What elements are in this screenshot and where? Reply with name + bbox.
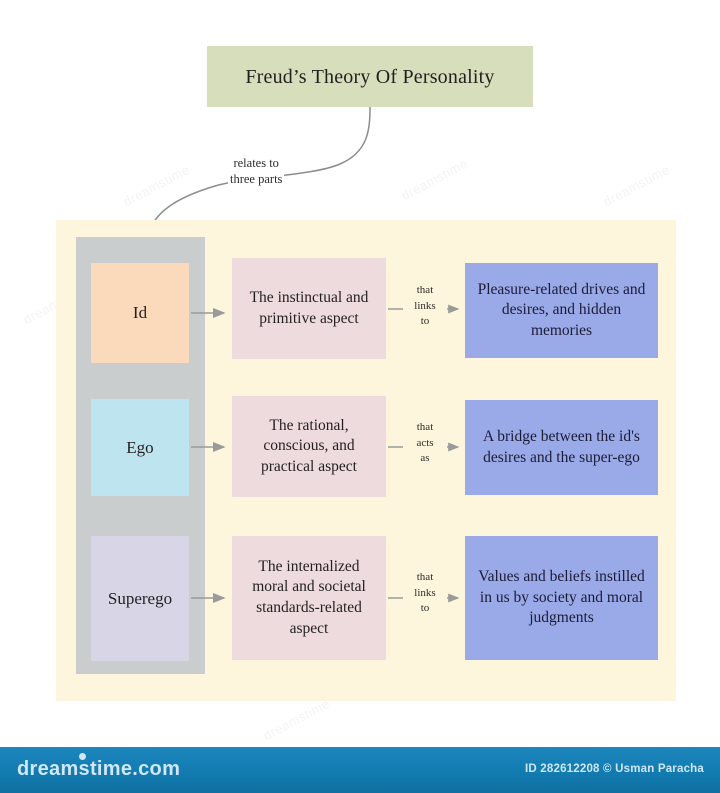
link-label-ego: that acts as: [403, 420, 447, 467]
link-label-superego: that links to: [403, 570, 447, 617]
outcome-text-id: Pleasure-related drives and desires, and…: [472, 280, 651, 342]
link-label-id-line3: to: [403, 314, 447, 330]
link-label-id-line2: links: [403, 299, 447, 315]
description-text-superego: The internalized moral and societal stan…: [240, 557, 378, 639]
footer-bar: dreamstime.com ID 282612208 © Usman Para…: [0, 747, 720, 793]
title-box: Freud’s Theory Of Personality: [207, 46, 533, 107]
part-box-superego[interactable]: Superego: [91, 536, 189, 661]
part-label-superego: Superego: [108, 589, 172, 609]
description-box-id[interactable]: The instinctual and primitive aspect: [232, 258, 386, 359]
page-title: Freud’s Theory Of Personality: [245, 66, 494, 88]
watermark-text: dreamstime: [601, 162, 672, 209]
link-label-superego-line3: to: [403, 601, 447, 617]
part-label-id: Id: [133, 303, 147, 323]
root-edge-label-line2: three parts: [230, 171, 282, 187]
link-label-ego-line3: as: [403, 451, 447, 467]
watermark-text: dreamstime: [399, 156, 470, 203]
watermark-text: dreamstime: [121, 162, 192, 209]
link-label-id: that links to: [403, 283, 447, 330]
description-text-id: The instinctual and primitive aspect: [240, 288, 378, 329]
part-box-ego[interactable]: Ego: [91, 399, 189, 496]
link-label-superego-line1: that: [403, 570, 447, 586]
outcome-box-superego[interactable]: Values and beliefs instilled in us by so…: [465, 536, 658, 660]
outcome-text-superego: Values and beliefs instilled in us by so…: [472, 567, 651, 629]
link-label-superego-line2: links: [403, 586, 447, 602]
description-text-ego: The rational, conscious, and practical a…: [240, 416, 378, 478]
dreamstime-logo: dreamstime.com: [17, 758, 180, 781]
outcome-text-ego: A bridge between the id's desires and th…: [472, 427, 651, 468]
watermark-text: dreamstime: [261, 696, 332, 743]
root-edge-label-line1: relates to: [230, 155, 282, 171]
dreamstime-logo-dot: [79, 753, 86, 760]
link-label-ego-line1: that: [403, 420, 447, 436]
root-edge-label: relates to three parts: [228, 155, 284, 187]
description-box-superego[interactable]: The internalized moral and societal stan…: [232, 536, 386, 660]
part-box-id[interactable]: Id: [91, 263, 189, 363]
outcome-box-ego[interactable]: A bridge between the id's desires and th…: [465, 400, 658, 495]
description-box-ego[interactable]: The rational, conscious, and practical a…: [232, 396, 386, 497]
diagram-canvas: dreamstime dreamstime dreamstime dreamst…: [0, 0, 720, 793]
part-label-ego: Ego: [126, 438, 153, 458]
outcome-box-id[interactable]: Pleasure-related drives and desires, and…: [465, 263, 658, 358]
image-credit: ID 282612208 © Usman Paracha: [525, 763, 704, 775]
link-label-id-line1: that: [403, 283, 447, 299]
link-label-ego-line2: acts: [403, 436, 447, 452]
dreamstime-logo-text: dreamstime.com: [17, 758, 180, 780]
